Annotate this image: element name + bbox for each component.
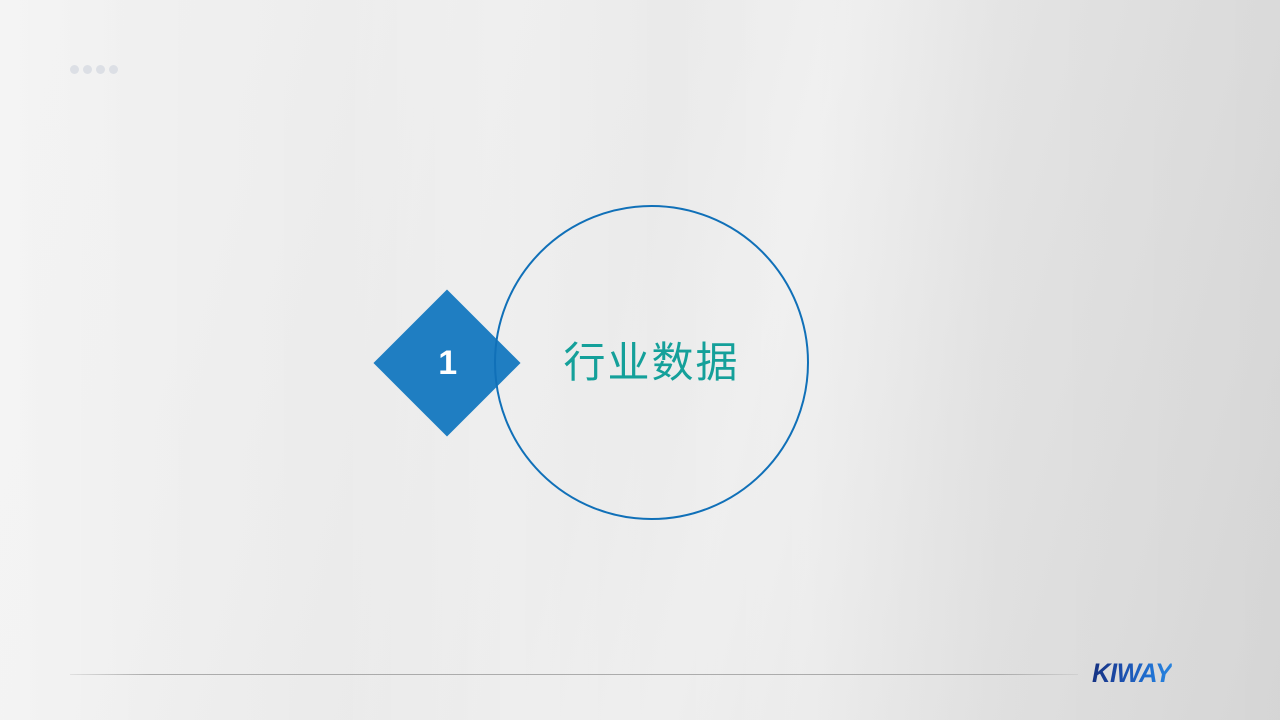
slide-canvas: 1 行业数据 KIWAY	[0, 0, 1280, 720]
section-divider-graphic: 1 行业数据	[0, 0, 1280, 720]
section-title: 行业数据	[494, 205, 809, 520]
brand-logo: KIWAY	[1092, 659, 1176, 687]
brand-logo-text: KIWAY	[1092, 660, 1172, 687]
footer-divider	[70, 674, 1078, 675]
